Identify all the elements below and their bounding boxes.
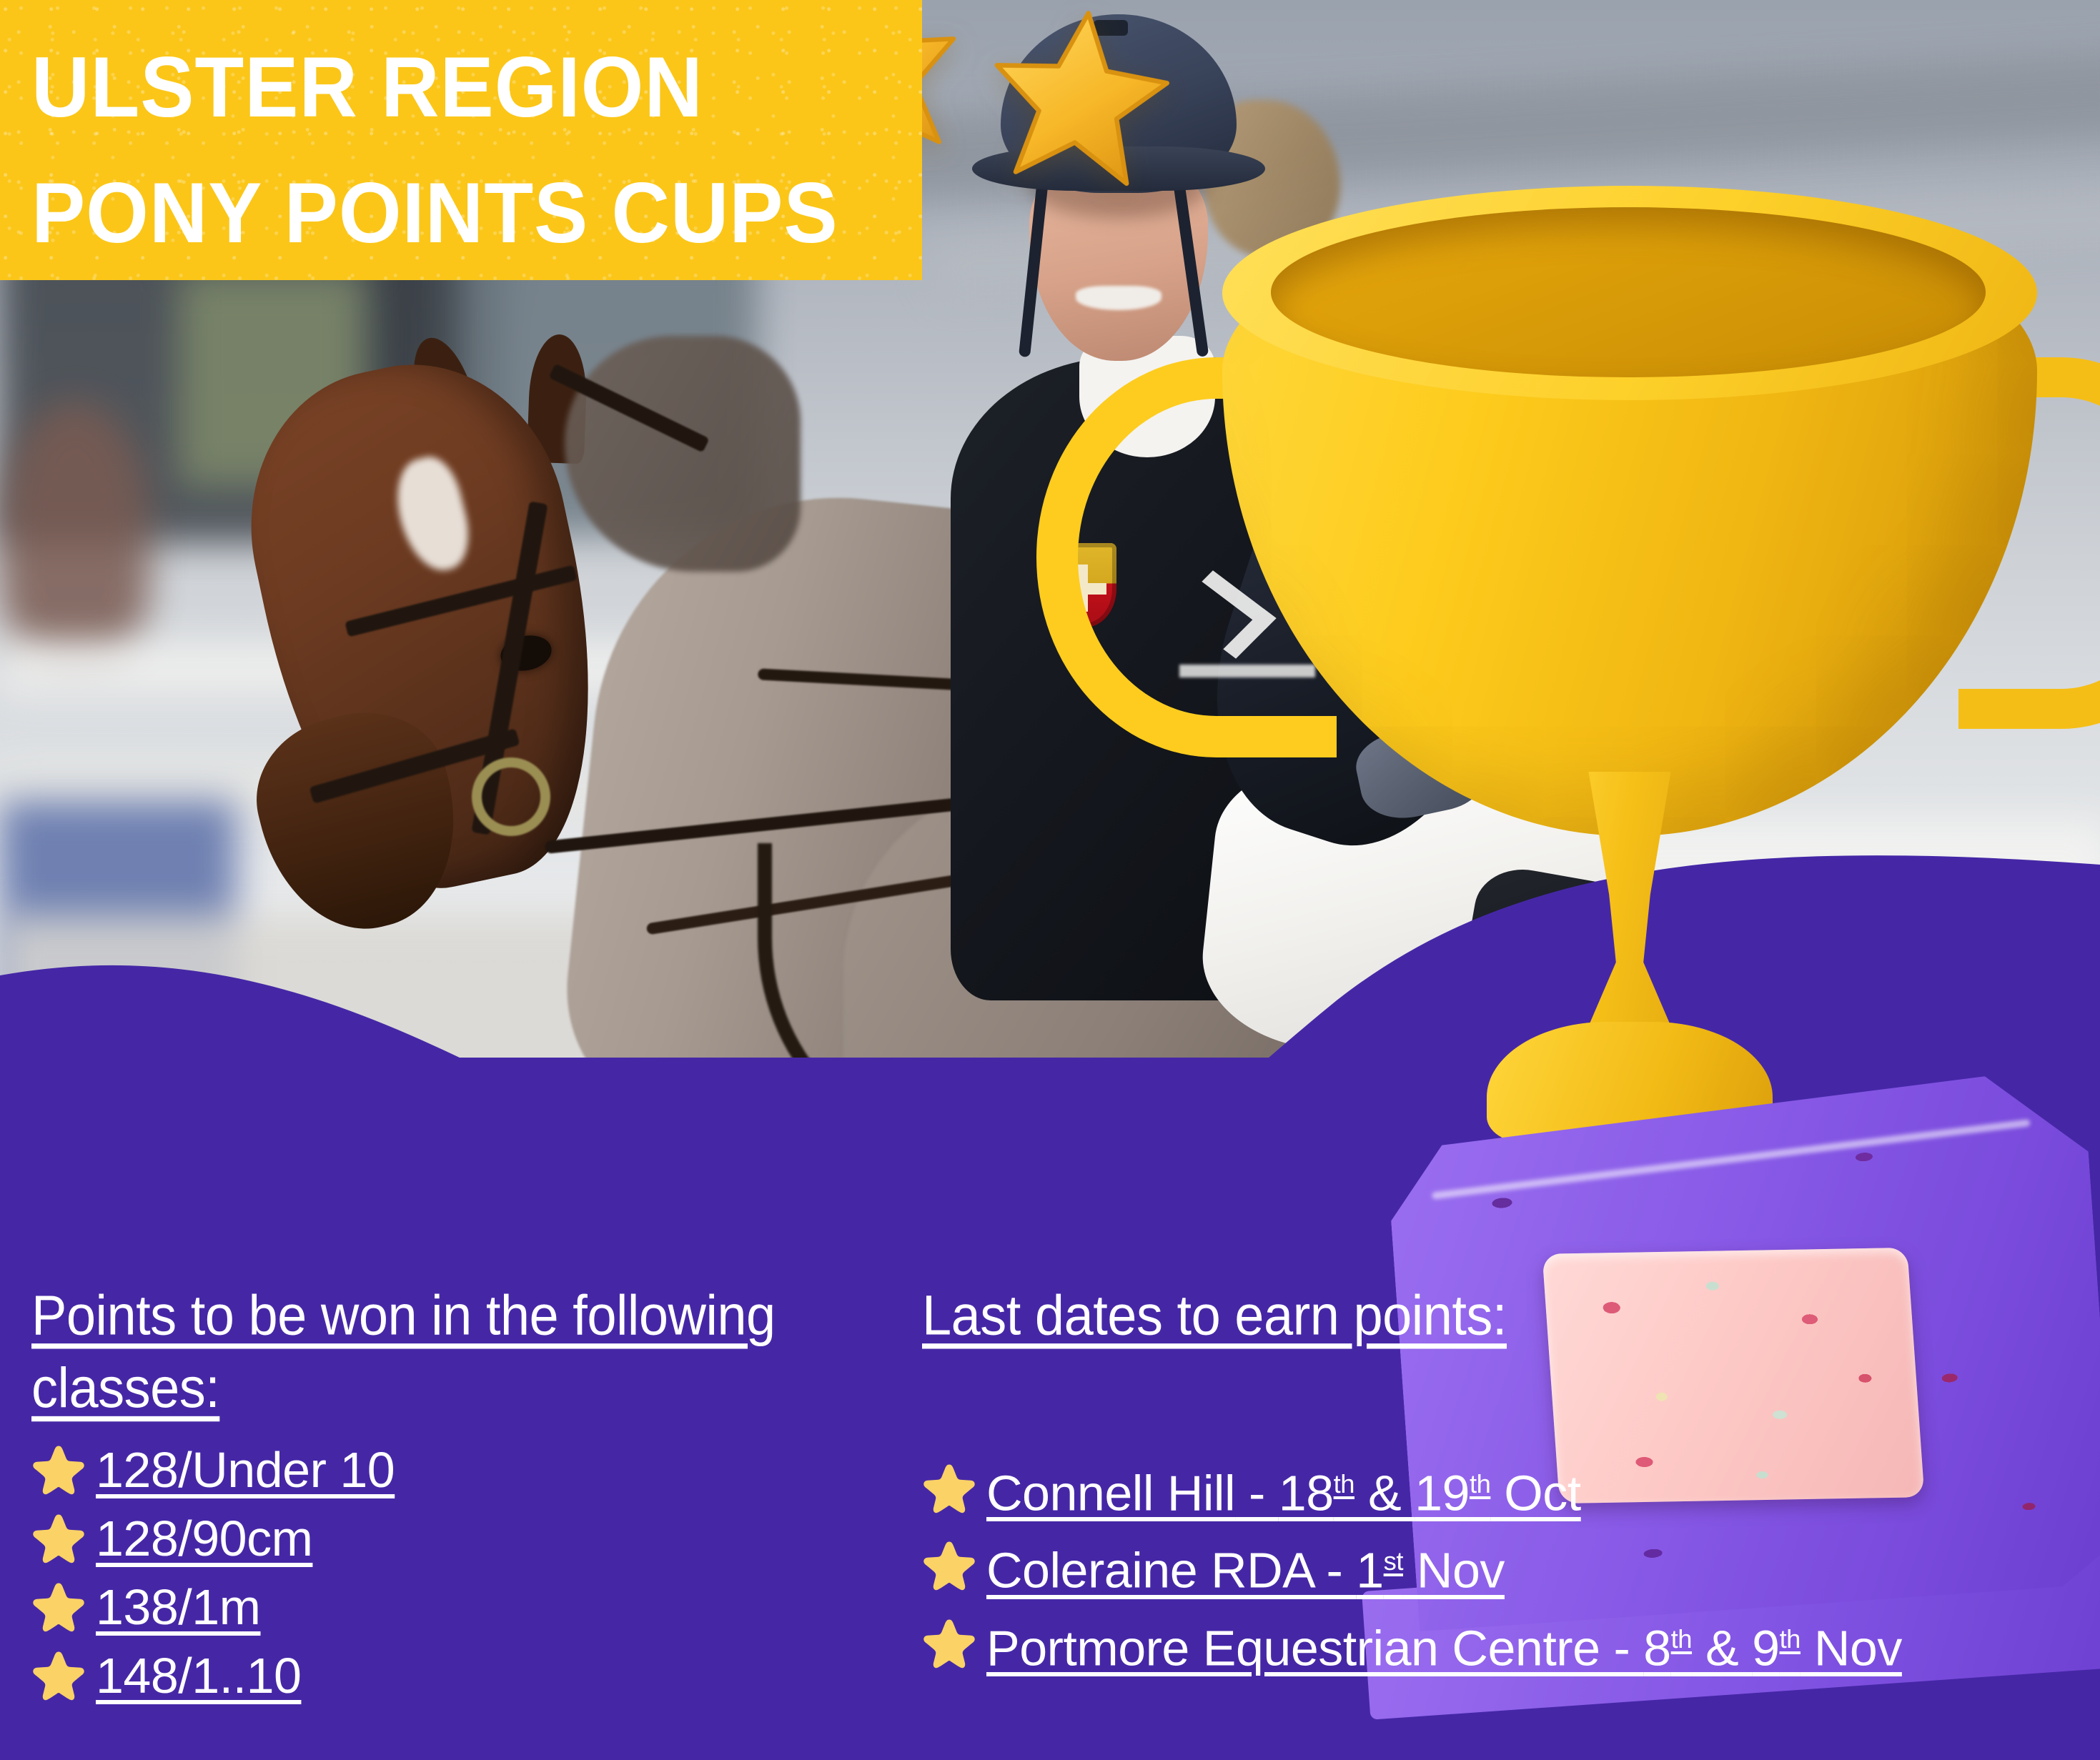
star-icon-right (977, 0, 1182, 202)
ordinal-suffix-2: th (1780, 1624, 1801, 1654)
poster-title-line-2: PONY POINTS CUPS (31, 160, 831, 266)
trophy-bowl-interior (1271, 207, 1986, 377)
day-number: 18 (1279, 1465, 1334, 1521)
poster-canvas: ULSTER REGION PONY POINTS CUPS Points to… (0, 0, 2100, 1760)
class-label: 148/1..10 (96, 1646, 301, 1705)
ampersand: & (1692, 1620, 1752, 1676)
month-name: Nov (1403, 1543, 1505, 1599)
day-number: 1 (1356, 1543, 1383, 1599)
list-item: 138/1m (31, 1578, 911, 1636)
poster-title-line-1: ULSTER REGION (31, 34, 831, 140)
venue-name: Portmore Equestrian Centre (986, 1620, 1600, 1676)
month-name: Oct (1490, 1465, 1580, 1521)
classes-heading: Points to be won in the following classe… (31, 1279, 911, 1425)
star-icon (31, 1649, 86, 1703)
classes-section: Points to be won in the following classe… (31, 1279, 911, 1715)
venue-name: Connell Hill (986, 1465, 1235, 1521)
star-icon (31, 1443, 86, 1497)
ordinal-suffix-2: th (1470, 1469, 1490, 1498)
star-icon (922, 1538, 976, 1593)
date-label: Connell Hill - 18th & 19th Oct (986, 1455, 1581, 1522)
list-item: 148/1..10 (31, 1646, 911, 1705)
list-item: Portmore Equestrian Centre - 8th & 9th N… (922, 1610, 2080, 1677)
pony-mane (565, 336, 801, 572)
title-banner: ULSTER REGION PONY POINTS CUPS (0, 0, 922, 280)
ordinal-suffix: th (1334, 1469, 1354, 1498)
day-number: 8 (1643, 1620, 1670, 1676)
star-icon (31, 1511, 86, 1566)
list-item: 128/90cm (31, 1509, 911, 1568)
class-label: 128/Under 10 (96, 1441, 395, 1499)
separator: - (1235, 1465, 1279, 1521)
star-icon (31, 1580, 86, 1634)
venue-name: Coleraine RDA (986, 1543, 1313, 1599)
dates-list: Connell Hill - 18th & 19th Oct Coleraine… (922, 1455, 2080, 1677)
separator: - (1313, 1543, 1357, 1599)
poster-content: Points to be won in the following classe… (0, 1279, 2100, 1760)
month-name: Nov (1801, 1620, 1902, 1676)
separator: - (1600, 1620, 1644, 1676)
dates-section: Last dates to earn points: Connell Hill … (922, 1279, 2080, 1687)
date-label: Coleraine RDA - 1st Nov (986, 1532, 1505, 1599)
ordinal-suffix: st (1384, 1546, 1403, 1576)
list-item: Coleraine RDA - 1st Nov (922, 1532, 2080, 1599)
list-item: Connell Hill - 18th & 19th Oct (922, 1455, 2080, 1522)
date-label: Portmore Equestrian Centre - 8th & 9th N… (986, 1610, 1902, 1677)
class-label: 128/90cm (96, 1509, 312, 1568)
day-number-2: 19 (1415, 1465, 1470, 1521)
class-label: 138/1m (96, 1578, 260, 1636)
list-item: 128/Under 10 (31, 1441, 911, 1499)
star-icon (922, 1461, 976, 1516)
classes-list: 128/Under 10 128/90cm 138/1m (31, 1441, 911, 1705)
star-icon (922, 1616, 976, 1671)
ampersand: & (1354, 1465, 1415, 1521)
dates-heading: Last dates to earn points: (922, 1279, 2080, 1352)
ordinal-suffix: th (1671, 1624, 1692, 1654)
day-number-2: 9 (1752, 1620, 1779, 1676)
